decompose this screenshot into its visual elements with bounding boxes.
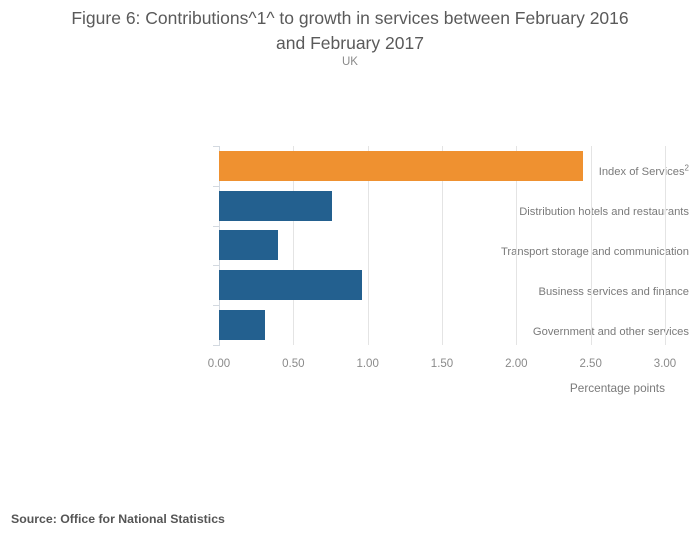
bar-row: [219, 146, 583, 186]
x-axis-title: Percentage points: [570, 381, 665, 395]
bar-transport-storage-and-communication[interactable]: [219, 230, 278, 260]
x-tick-label-1: 0.50: [282, 358, 304, 370]
x-tick-label-2: 1.00: [356, 358, 378, 370]
bar-index-of-services[interactable]: [219, 151, 583, 181]
chart-subtitle: UK: [20, 56, 680, 68]
y-axis-tick: [213, 345, 219, 346]
x-tick-label-4: 2.00: [505, 358, 527, 370]
chart-title: Figure 6: Contributions^1^ to growth in …: [20, 6, 680, 56]
x-tick-label-5: 2.50: [579, 358, 601, 370]
bar-government-and-other-services[interactable]: [219, 310, 265, 340]
x-tick-label-0: 0.00: [208, 358, 230, 370]
bar-row: [219, 305, 265, 345]
bar-business-services-and-finance[interactable]: [219, 270, 362, 300]
y-axis-tick: [213, 265, 219, 266]
y-axis-tick: [213, 146, 219, 147]
bar-row: [219, 186, 332, 226]
x-tick-label-6: 3.00: [654, 358, 676, 370]
source-note: Source: Office for National Statistics: [11, 512, 225, 526]
y-tick-label-0-superscript: 2: [685, 163, 689, 172]
gridline: [591, 146, 592, 345]
y-axis-tick: [213, 226, 219, 227]
bar-row: [219, 226, 278, 266]
bar-distribution-hotels-and-restaurants[interactable]: [219, 191, 332, 221]
x-tick-label-3: 1.50: [431, 358, 453, 370]
y-axis-tick: [213, 186, 219, 187]
plot-area: [219, 146, 665, 345]
bar-row: [219, 265, 362, 305]
y-axis-tick: [213, 305, 219, 306]
